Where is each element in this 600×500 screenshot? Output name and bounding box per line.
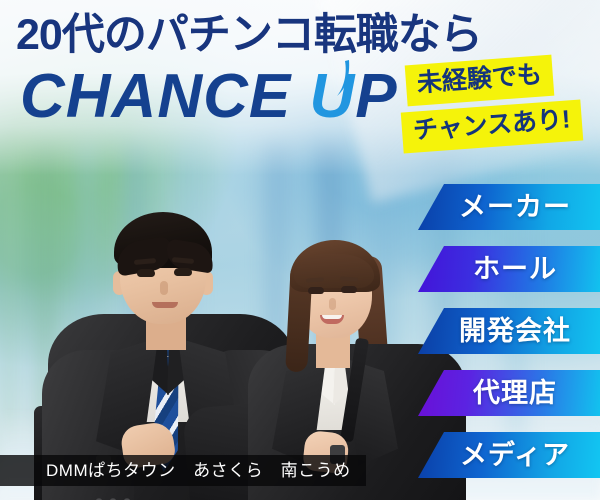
category-button-agency[interactable]: 代理店 xyxy=(418,370,600,416)
category-button-maker[interactable]: メーカー xyxy=(418,184,600,230)
category-button-list: メーカー ホール 開発会社 代理店 メディア xyxy=(0,0,600,500)
category-label-agency: 代理店 xyxy=(473,380,557,407)
category-label-hall: ホール xyxy=(473,256,557,283)
category-button-media[interactable]: メディア xyxy=(418,432,600,478)
category-button-developer[interactable]: 開発会社 xyxy=(418,308,600,354)
category-label-maker: メーカー xyxy=(459,194,571,221)
banner-root: 20代のパチンコ転職なら CHANCE UP 未経験でも チャンスあり! メーカ… xyxy=(0,0,600,500)
category-button-hall[interactable]: ホール xyxy=(418,246,600,292)
category-label-developer: 開発会社 xyxy=(459,318,571,345)
category-label-media: メディア xyxy=(460,442,570,469)
credit-text: DMMぱちタウン あさくら 南こうめ xyxy=(46,460,351,482)
